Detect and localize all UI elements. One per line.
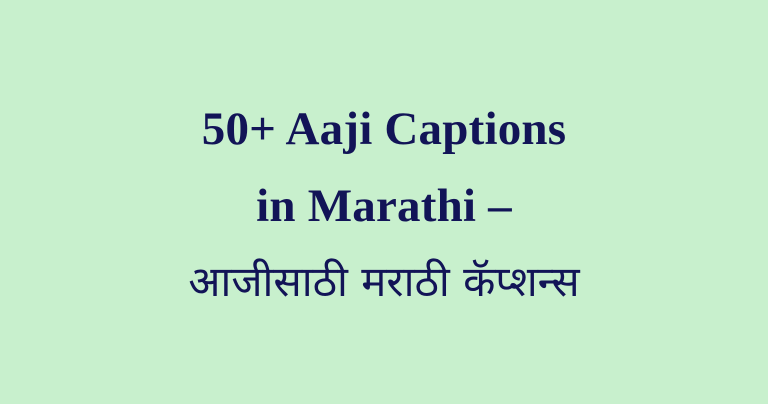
title-line-english-2: in Marathi –: [256, 168, 512, 244]
banner-canvas: 50+ Aaji Captions in Marathi – आजीसाठी म…: [0, 0, 768, 404]
page-title: 50+ Aaji Captions in Marathi – आजीसाठी म…: [0, 0, 768, 404]
title-line-marathi: आजीसाठी मराठी कॅप्शन्स: [188, 244, 579, 313]
title-line-english-1: 50+ Aaji Captions: [202, 91, 566, 167]
